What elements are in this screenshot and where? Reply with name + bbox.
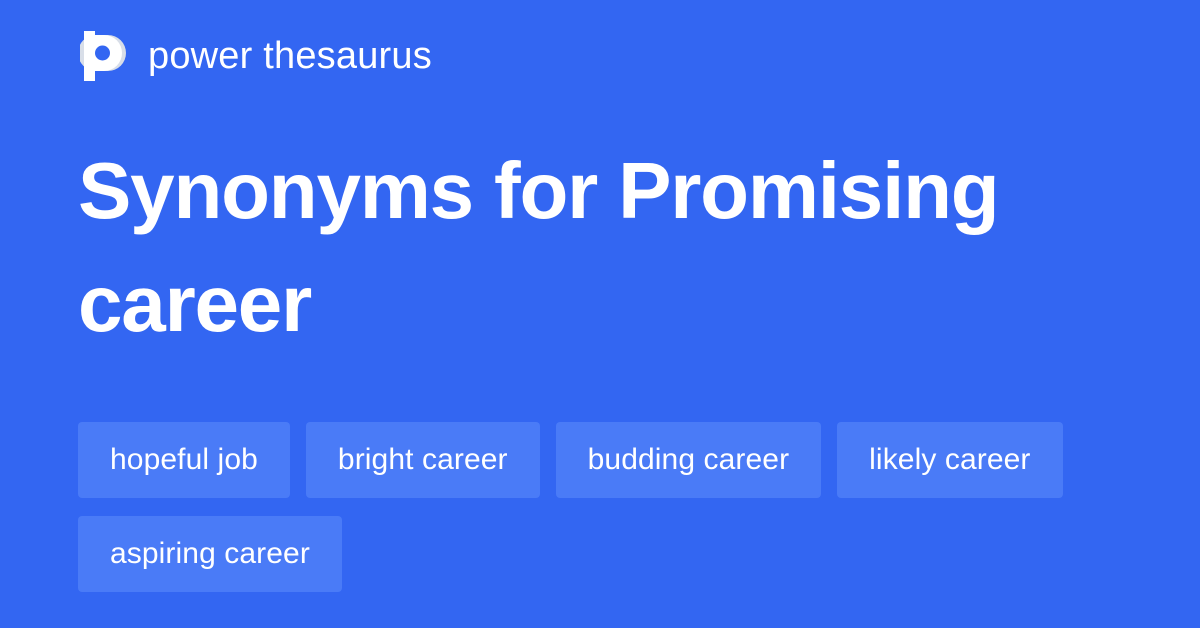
synonym-chip[interactable]: hopeful job (78, 422, 290, 498)
page-title: Synonyms for Promising career (78, 134, 1098, 360)
power-thesaurus-b-logo-icon (80, 31, 126, 81)
share-card: power thesaurus Synonyms for Promising c… (0, 0, 1200, 628)
brand-logo[interactable]: power thesaurus (80, 28, 432, 84)
brand-name: power thesaurus (148, 37, 432, 75)
synonym-chip[interactable]: bright career (306, 422, 540, 498)
synonym-chip[interactable]: budding career (556, 422, 822, 498)
synonym-chip[interactable]: aspiring career (78, 516, 342, 592)
synonym-chip-list: hopeful job bright career budding career… (78, 422, 1128, 592)
synonym-chip[interactable]: likely career (837, 422, 1062, 498)
